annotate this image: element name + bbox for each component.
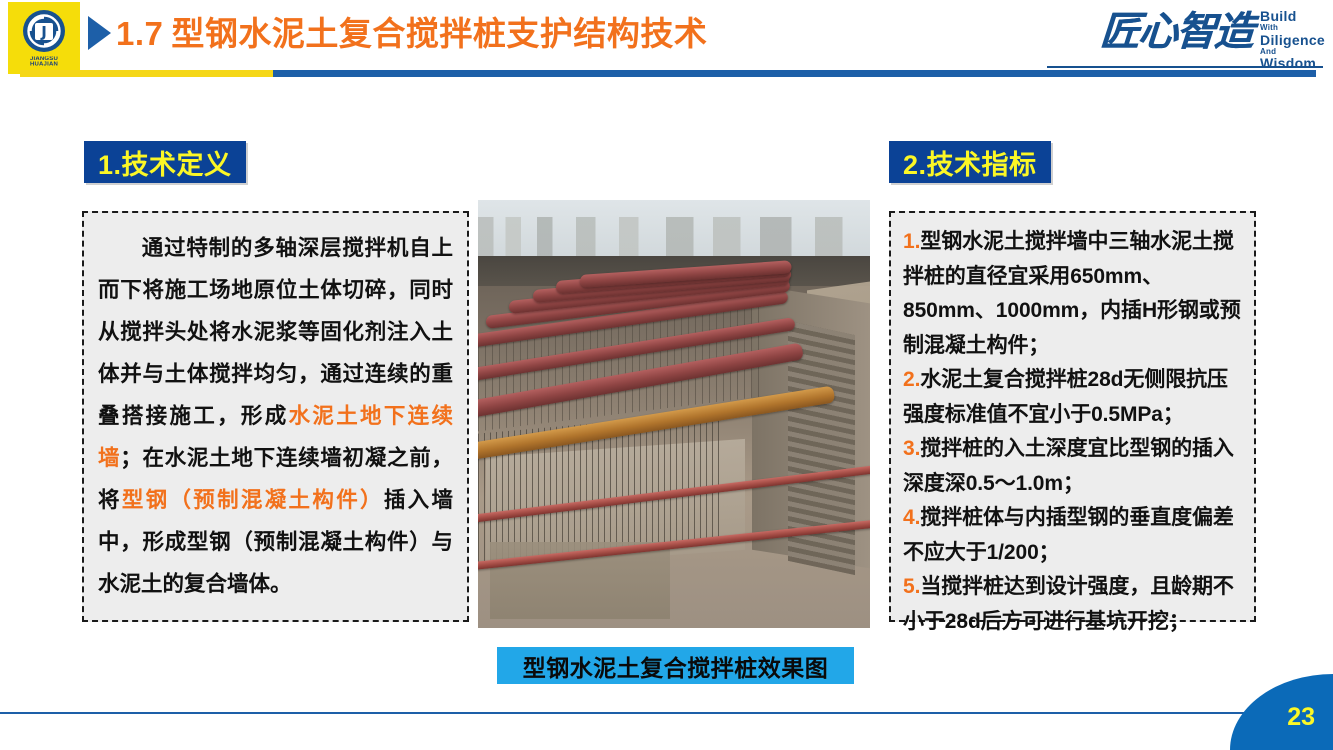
site-photo bbox=[478, 200, 870, 628]
title-arrow-icon bbox=[88, 16, 111, 50]
brand-en-build: Build bbox=[1260, 9, 1325, 24]
definition-seg-1: 通过特制的多轴深层搅拌机自上而下将施工场地原位土体切碎，同时从搅拌头处将水泥浆等… bbox=[98, 236, 453, 428]
company-logo-subtext: JIANGSU HUAJIAN bbox=[30, 57, 58, 68]
indicators-panel: 1.型钢水泥土搅拌墙中三轴水泥土搅拌桩的直径宜采用650mm、850mm、100… bbox=[889, 211, 1256, 622]
list-item-text: 当搅拌桩达到设计强度，且龄期不小于28d后方可进行基坑开挖； bbox=[903, 575, 1234, 633]
page-corner-shape bbox=[1230, 674, 1333, 750]
indicator-list: 1.型钢水泥土搅拌墙中三轴水泥土搅拌桩的直径宜采用650mm、850mm、100… bbox=[891, 213, 1254, 639]
list-item-number: 2. bbox=[903, 368, 920, 391]
footer-divider bbox=[0, 712, 1333, 714]
company-logo-icon: J bbox=[21, 8, 67, 54]
list-item-text: 搅拌桩体与内插型钢的垂直度偏差不应大于1/200； bbox=[903, 506, 1234, 564]
page-title: 1.7型钢水泥土复合搅拌桩支护结构技术 bbox=[116, 7, 707, 55]
section-heading-definition: 1.技术定义 bbox=[84, 141, 246, 183]
brand-logo-english: Build With Diligence And Wisdom bbox=[1260, 9, 1325, 72]
header-divider-yellow bbox=[20, 70, 273, 77]
brand-underline bbox=[1047, 66, 1323, 68]
brand-logo: 匠心智造 Build With Diligence And Wisdom bbox=[1100, 6, 1325, 68]
definition-paragraph: 通过特制的多轴深层搅拌机自上而下将施工场地原位土体切碎，同时从搅拌头处将水泥浆等… bbox=[84, 213, 467, 605]
list-item: 4.搅拌桩体与内插型钢的垂直度偏差不应大于1/200； bbox=[903, 501, 1244, 570]
title-text: 型钢水泥土复合搅拌桩支护结构技术 bbox=[171, 15, 707, 52]
list-item-number: 4. bbox=[903, 506, 920, 529]
brand-logo-chinese: 匠心智造 bbox=[1098, 6, 1254, 58]
page-number: 23 bbox=[1287, 703, 1315, 732]
list-item-number: 1. bbox=[903, 230, 920, 253]
list-item-text: 搅拌桩的入土深度宜比型钢的插入深度深0.5～1.0m； bbox=[903, 437, 1234, 495]
title-number: 1.7 bbox=[116, 15, 163, 52]
list-item: 2.水泥土复合搅拌桩28d无侧限抗压强度标准值不宜小于0.5MPa； bbox=[903, 363, 1244, 432]
list-item-text: 水泥土复合搅拌桩28d无侧限抗压强度标准值不宜小于0.5MPa； bbox=[903, 368, 1228, 426]
brand-en-diligence: Diligence bbox=[1260, 33, 1325, 48]
slide-root: J JIANGSU HUAJIAN 1.7型钢水泥土复合搅拌桩支护结构技术 匠心… bbox=[0, 0, 1333, 750]
company-logo: J JIANGSU HUAJIAN bbox=[8, 2, 80, 74]
definition-panel: 通过特制的多轴深层搅拌机自上而下将施工场地原位土体切碎，同时从搅拌头处将水泥浆等… bbox=[82, 211, 469, 622]
site-photo-content bbox=[478, 200, 870, 628]
header-divider-blue bbox=[273, 70, 1316, 77]
list-item-number: 5. bbox=[903, 575, 920, 598]
svg-text:J: J bbox=[40, 23, 47, 41]
list-item: 3.搅拌桩的入土深度宜比型钢的插入深度深0.5～1.0m； bbox=[903, 432, 1244, 501]
list-item-text: 型钢水泥土搅拌墙中三轴水泥土搅拌桩的直径宜采用650mm、850mm、1000m… bbox=[903, 230, 1241, 357]
list-item: 1.型钢水泥土搅拌墙中三轴水泥土搅拌桩的直径宜采用650mm、850mm、100… bbox=[903, 225, 1244, 363]
section-heading-indicators: 2.技术指标 bbox=[889, 141, 1051, 183]
photo-caption: 型钢水泥土复合搅拌桩效果图 bbox=[497, 647, 854, 684]
list-item: 5.当搅拌桩达到设计强度，且龄期不小于28d后方可进行基坑开挖； bbox=[903, 570, 1244, 639]
definition-highlight-2: 型钢（预制混凝土构件） bbox=[122, 488, 384, 512]
list-item-number: 3. bbox=[903, 437, 920, 460]
